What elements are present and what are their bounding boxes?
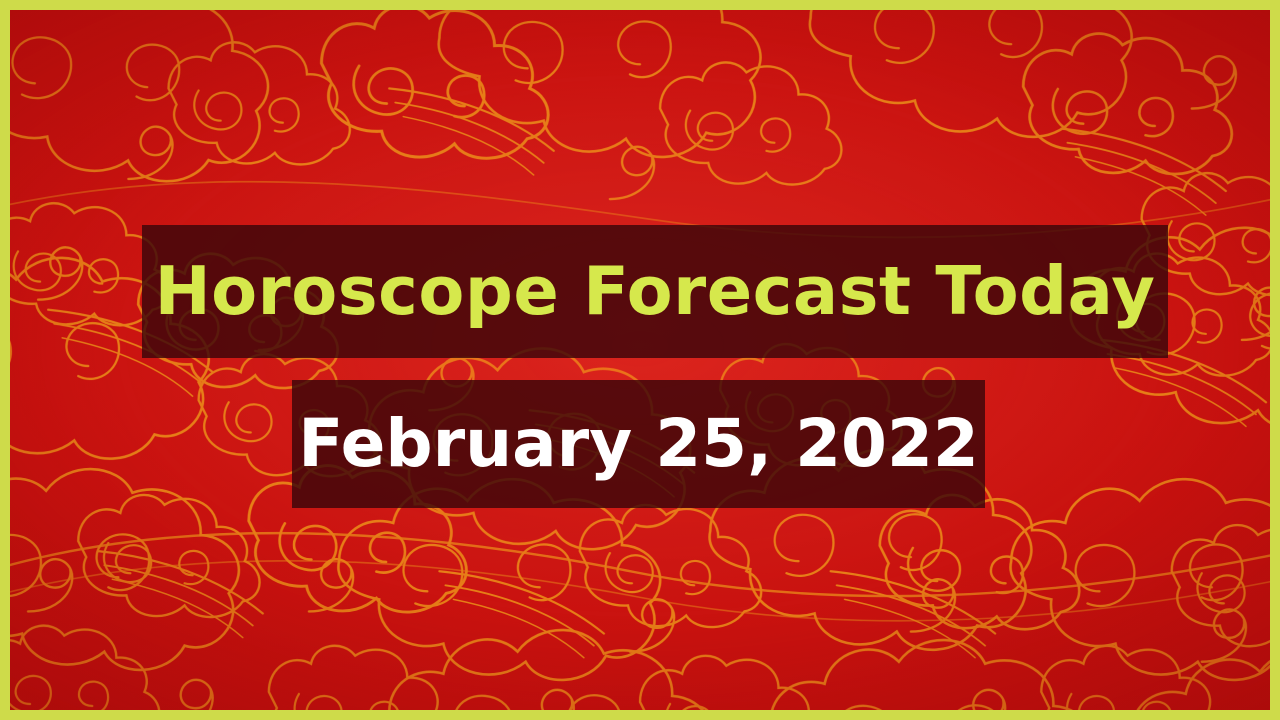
poster-canvas: Horoscope Forecast Today February 25, 20… [0, 0, 1280, 720]
title-banner: Horoscope Forecast Today [142, 225, 1168, 358]
patterned-background [10, 10, 1270, 710]
page-title: Horoscope Forecast Today [155, 258, 1156, 325]
forecast-date: February 25, 2022 [298, 411, 979, 477]
date-banner: February 25, 2022 [292, 380, 985, 508]
chinese-cloud-pattern-icon [10, 10, 1270, 710]
